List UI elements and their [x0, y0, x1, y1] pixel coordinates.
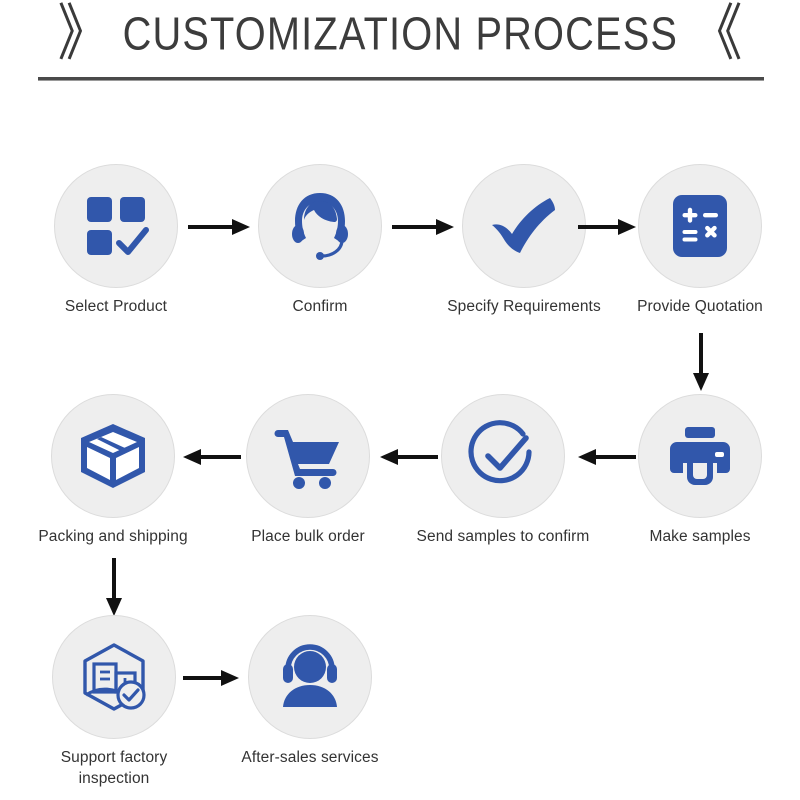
- step-label: After-sales services: [205, 748, 415, 769]
- step-label: Support factory inspection: [9, 748, 219, 790]
- arrow-place-bulk-order-to-packing-and-shipping: [183, 446, 241, 468]
- step-label: Select Product: [41, 297, 191, 318]
- step-send-samples-to-confirm[interactable]: Send samples to confirm: [428, 394, 578, 548]
- page-title-text: CUSTOMIZATION PROCESS: [122, 8, 678, 61]
- step-icon-circle: [248, 615, 372, 739]
- title-divider: [38, 77, 764, 81]
- arrow-packing-to-support-factory-inspection: [103, 558, 125, 616]
- chevron-left-icon: 》: [58, 3, 110, 64]
- process-diagram-canvas: 》 CUSTOMIZATION PROCESS 《 Select Product: [0, 0, 800, 800]
- step-label: Make samples: [595, 527, 800, 548]
- checkmark-icon: [487, 189, 561, 263]
- arrow-confirm-to-specify-requirements: [392, 216, 454, 238]
- step-confirm[interactable]: Confirm: [245, 164, 395, 318]
- chevron-right-icon: 《: [690, 3, 742, 64]
- step-make-samples[interactable]: Make samples: [625, 394, 775, 548]
- check-circle-icon: [466, 419, 540, 493]
- page-title: 》 CUSTOMIZATION PROCESS 《: [0, 8, 800, 60]
- step-icon-circle: [51, 394, 175, 518]
- printer-icon: [665, 421, 735, 491]
- step-label: Place bulk order: [203, 527, 413, 548]
- step-icon-circle: [638, 394, 762, 518]
- step-place-bulk-order[interactable]: Place bulk order: [233, 394, 383, 548]
- calculator-icon: [667, 193, 733, 259]
- factory-inspect-icon: [77, 640, 151, 714]
- step-support-factory-inspection[interactable]: Support factory inspection: [39, 615, 189, 790]
- step-after-sales-services[interactable]: After-sales services: [235, 615, 385, 769]
- step-icon-circle: [246, 394, 370, 518]
- step-label: Confirm: [245, 297, 395, 318]
- arrow-make-samples-to-send-samples: [578, 446, 636, 468]
- arrow-send-samples-to-place-bulk-order: [380, 446, 438, 468]
- grid-check-icon: [81, 191, 151, 261]
- shopping-cart-icon: [272, 420, 344, 492]
- step-specify-requirements[interactable]: Specify Requirements: [449, 164, 599, 318]
- arrow-provide-quotation-to-make-samples: [690, 333, 712, 391]
- step-icon-circle: [52, 615, 176, 739]
- step-packing-and-shipping[interactable]: Packing and shipping: [38, 394, 188, 548]
- step-icon-circle: [54, 164, 178, 288]
- step-icon-circle: [258, 164, 382, 288]
- arrow-support-factory-inspection-to-after-sales: [183, 667, 239, 689]
- support-agent-icon: [284, 190, 356, 262]
- step-label: Send samples to confirm: [398, 527, 608, 548]
- step-select-product[interactable]: Select Product: [41, 164, 191, 318]
- step-label: Provide Quotation: [595, 297, 800, 318]
- step-label: Packing and shipping: [8, 527, 218, 548]
- step-icon-circle: [441, 394, 565, 518]
- headset-person-icon: [274, 641, 346, 713]
- arrow-select-product-to-confirm: [188, 216, 250, 238]
- package-box-icon: [77, 420, 149, 492]
- step-provide-quotation[interactable]: Provide Quotation: [625, 164, 775, 318]
- step-icon-circle: [462, 164, 586, 288]
- step-icon-circle: [638, 164, 762, 288]
